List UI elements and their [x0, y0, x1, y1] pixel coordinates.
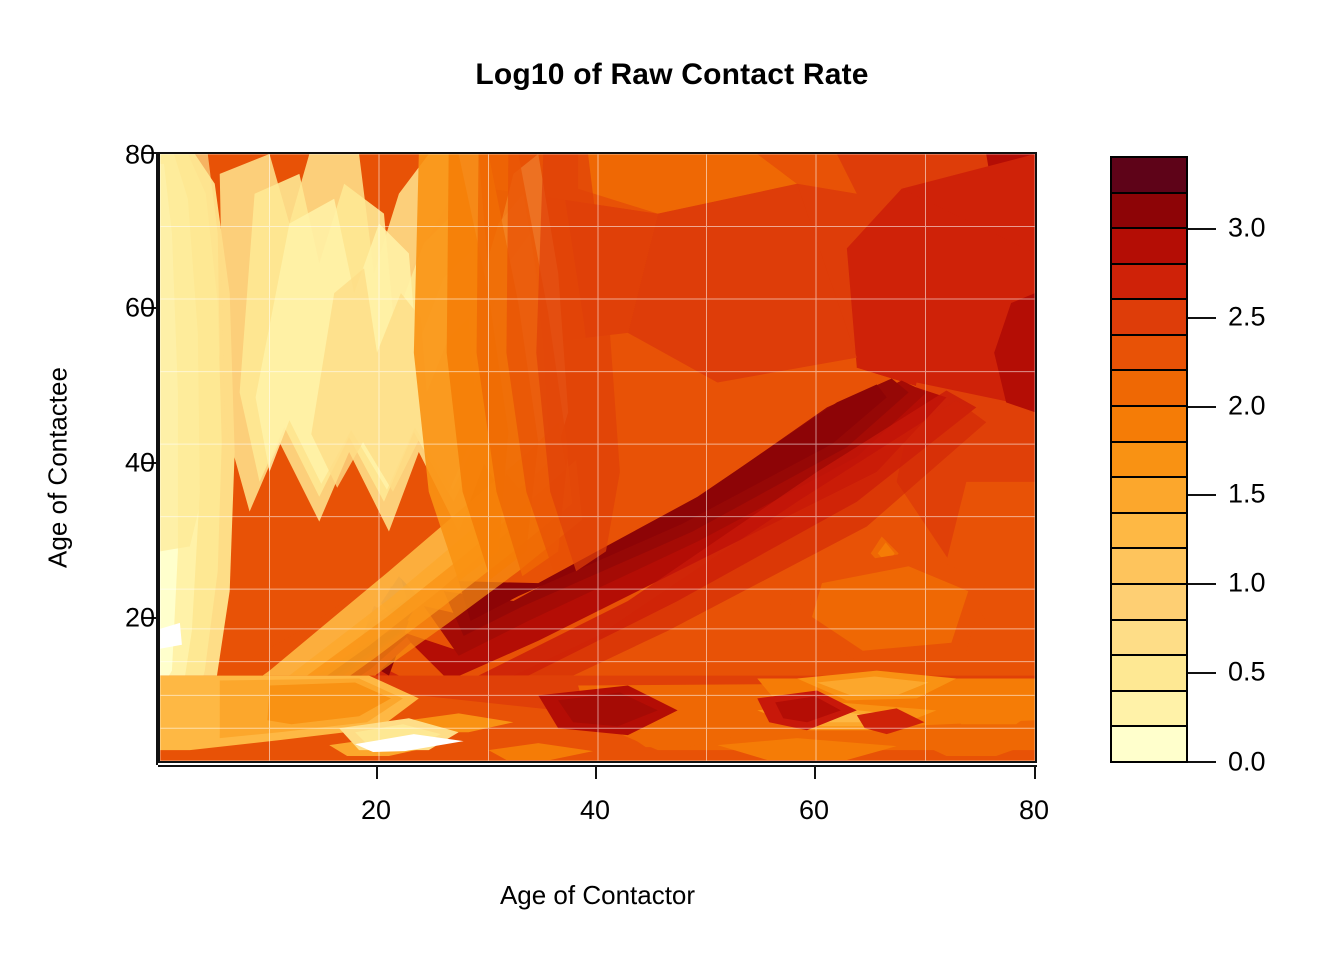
colorbar-tick-2.0	[1188, 406, 1216, 408]
colorbar-band-8	[1112, 441, 1186, 477]
contour-heatmap	[160, 154, 1035, 761]
figure-canvas: Log10 of Raw Contact Rate	[0, 0, 1344, 960]
y-tick-label-60: 60	[125, 293, 155, 324]
x-tick-20	[376, 766, 378, 779]
x-tick-label-80: 80	[1019, 795, 1049, 826]
x-tick-40	[595, 766, 597, 779]
x-tick-60	[814, 766, 816, 779]
colorbar-band-5	[1112, 547, 1186, 583]
colorbar-band-10	[1112, 369, 1186, 405]
colorbar-band-0	[1112, 725, 1186, 761]
colorbar-tick-label-1.0: 1.0	[1228, 568, 1266, 599]
colorbar-tick-label-0.0: 0.0	[1228, 747, 1266, 778]
contour-plot-panel	[158, 152, 1037, 763]
colorbar-band-3	[1112, 619, 1186, 655]
y-tick-label-80: 80	[125, 140, 155, 171]
colorbar-tick-group: 0.0 0.5 1.0 1.5 2.0 2.5 3.0	[1188, 156, 1338, 763]
colorbar-band-15	[1112, 192, 1186, 228]
colorbar-band-13	[1112, 263, 1186, 299]
y-axis-title: Age of Contactee	[43, 258, 74, 678]
colorbar-tick-0.0	[1188, 761, 1216, 763]
x-axis-title: Age of Contactor	[158, 880, 1037, 911]
x-tick-label-20: 20	[361, 795, 391, 826]
colorbar-band-7	[1112, 476, 1186, 512]
colorbar-band-16	[1112, 158, 1186, 192]
y-axis-line	[156, 152, 158, 765]
colorbar-tick-1.0	[1188, 583, 1216, 585]
colorbar-band-9	[1112, 405, 1186, 441]
colorbar-tick-label-2.5: 2.5	[1228, 302, 1266, 333]
x-tick-80	[1034, 766, 1036, 779]
colorbar	[1110, 156, 1188, 763]
colorbar-tick-1.5	[1188, 494, 1216, 496]
x-tick-label-40: 40	[580, 795, 610, 826]
colorbar-band-2	[1112, 654, 1186, 690]
colorbar-band-12	[1112, 298, 1186, 334]
colorbar-tick-0.5	[1188, 672, 1216, 674]
x-axis-line	[158, 765, 1037, 767]
colorbar-tick-3.0	[1188, 228, 1216, 230]
colorbar-tick-label-0.5: 0.5	[1228, 657, 1266, 688]
y-tick-label-40: 40	[125, 448, 155, 479]
y-tick-label-20: 20	[125, 603, 155, 634]
page-title: Log10 of Raw Contact Rate	[0, 58, 1344, 92]
colorbar-tick-label-2.0: 2.0	[1228, 391, 1266, 422]
colorbar-tick-2.5	[1188, 317, 1216, 319]
colorbar-band-6	[1112, 512, 1186, 548]
colorbar-band-1	[1112, 690, 1186, 726]
colorbar-band-11	[1112, 334, 1186, 370]
colorbar-band-14	[1112, 227, 1186, 263]
colorbar-band-4	[1112, 583, 1186, 619]
x-tick-label-60: 60	[799, 795, 829, 826]
colorbar-tick-label-1.5: 1.5	[1228, 479, 1266, 510]
colorbar-tick-label-3.0: 3.0	[1228, 213, 1266, 244]
